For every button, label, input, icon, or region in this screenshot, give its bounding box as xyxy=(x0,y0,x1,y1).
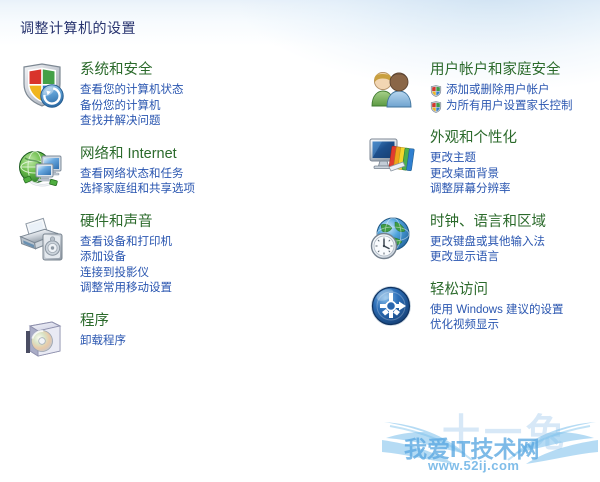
category-column-right: 用户帐户和家庭安全添加或删除用户帐户为所有用户设置家长控制外观和个性化更改主题更… xyxy=(366,60,596,348)
category-link[interactable]: 使用 Windows 建议的设置 xyxy=(430,303,596,319)
category-title[interactable]: 网络和 Internet xyxy=(80,145,316,164)
category-link-label: 优化视频显示 xyxy=(430,319,499,331)
category-link[interactable]: 选择家庭组和共享选项 xyxy=(80,182,316,198)
category-ease-of-access: 轻松访问使用 Windows 建议的设置优化视频显示 xyxy=(366,280,596,334)
category-link[interactable]: 调整常用移动设置 xyxy=(80,281,316,297)
category-link[interactable]: 卸载程序 xyxy=(80,334,316,350)
user-accounts-icon xyxy=(366,62,416,110)
category-link-label: 调整常用移动设置 xyxy=(80,282,172,294)
category-user-accounts: 用户帐户和家庭安全添加或删除用户帐户为所有用户设置家长控制 xyxy=(366,60,596,114)
category-title[interactable]: 硬件和声音 xyxy=(80,213,316,232)
category-link[interactable]: 更改键盘或其他输入法 xyxy=(430,235,596,251)
appearance-monitor-icon xyxy=(366,130,416,178)
category-column-left: 系统和安全查看您的计算机状态备份您的计算机查找并解决问题网络和 Internet… xyxy=(16,60,316,375)
category-link-label: 更改显示语言 xyxy=(430,251,499,263)
site-watermark: 十一兔 我爱IT技术网 www.52ij.com xyxy=(380,392,600,482)
security-shield-icon xyxy=(16,62,66,110)
category-link[interactable]: 更改主题 xyxy=(430,151,596,167)
user-accounts-icon[interactable] xyxy=(366,62,416,110)
uac-shield-icon xyxy=(430,101,442,113)
category-network-globe: 网络和 Internet查看网络状态和任务选择家庭组和共享选项 xyxy=(16,144,316,198)
category-link-label: 查找并解决问题 xyxy=(80,115,161,127)
category-link-label: 查看网络状态和任务 xyxy=(80,168,184,180)
category-link[interactable]: 为所有用户设置家长控制 xyxy=(430,99,596,115)
category-programs-box: 程序卸载程序 xyxy=(16,311,316,361)
network-globe-icon xyxy=(16,146,66,194)
category-printer-sound: 硬件和声音查看设备和打印机添加设备连接到投影仪调整常用移动设置 xyxy=(16,212,316,297)
network-globe-icon[interactable] xyxy=(16,146,66,194)
category-title[interactable]: 用户帐户和家庭安全 xyxy=(430,61,596,80)
ease-of-access-icon[interactable] xyxy=(366,282,416,330)
watermark-wings-icon xyxy=(380,414,600,476)
category-link[interactable]: 备份您的计算机 xyxy=(80,99,316,115)
category-link-label: 查看您的计算机状态 xyxy=(80,84,184,96)
watermark-main-text: 我爱IT技术网 xyxy=(404,430,539,464)
page-title: 调整计算机的设置 xyxy=(20,18,136,38)
category-link-label: 更改键盘或其他输入法 xyxy=(430,236,545,248)
category-body: 时钟、语言和区域更改键盘或其他输入法更改显示语言 xyxy=(430,212,596,266)
category-body: 外观和个性化更改主题更改桌面背景调整屏幕分辨率 xyxy=(430,128,596,198)
category-link[interactable]: 添加或删除用户帐户 xyxy=(430,83,596,99)
category-link-label: 查看设备和打印机 xyxy=(80,236,172,248)
category-link-label: 使用 Windows 建议的设置 xyxy=(430,304,564,316)
category-link[interactable]: 调整屏幕分辨率 xyxy=(430,182,596,198)
clock-globe-icon xyxy=(366,214,416,262)
watermark-url-text: www.52ij.com xyxy=(428,458,520,473)
control-panel-page: 调整计算机的设置 系统和安全查看您的计算机状态备份您的计算机查找并解决问题网络和… xyxy=(0,0,600,482)
category-link[interactable]: 查看网络状态和任务 xyxy=(80,167,316,183)
category-title[interactable]: 系统和安全 xyxy=(80,61,316,80)
category-title[interactable]: 时钟、语言和区域 xyxy=(430,213,596,232)
programs-box-icon[interactable] xyxy=(16,313,66,361)
category-title[interactable]: 程序 xyxy=(80,312,316,331)
printer-sound-icon xyxy=(16,214,66,262)
category-body: 网络和 Internet查看网络状态和任务选择家庭组和共享选项 xyxy=(80,144,316,198)
category-body: 用户帐户和家庭安全添加或删除用户帐户为所有用户设置家长控制 xyxy=(430,60,596,114)
ease-of-access-icon xyxy=(366,282,416,330)
programs-box-icon xyxy=(16,313,66,361)
uac-shield-icon xyxy=(430,85,442,97)
category-body: 轻松访问使用 Windows 建议的设置优化视频显示 xyxy=(430,280,596,334)
category-link[interactable]: 添加设备 xyxy=(80,250,316,266)
category-link[interactable]: 更改桌面背景 xyxy=(430,167,596,183)
category-appearance-monitor: 外观和个性化更改主题更改桌面背景调整屏幕分辨率 xyxy=(366,128,596,198)
category-link-label: 更改桌面背景 xyxy=(430,168,499,180)
category-link-label: 为所有用户设置家长控制 xyxy=(446,100,573,112)
category-body: 系统和安全查看您的计算机状态备份您的计算机查找并解决问题 xyxy=(80,60,316,130)
category-security-shield: 系统和安全查看您的计算机状态备份您的计算机查找并解决问题 xyxy=(16,60,316,130)
category-link[interactable]: 连接到投影仪 xyxy=(80,266,316,282)
category-link[interactable]: 查看设备和打印机 xyxy=(80,235,316,251)
category-link-label: 卸载程序 xyxy=(80,335,126,347)
category-link-label: 更改主题 xyxy=(430,152,476,164)
category-link[interactable]: 更改显示语言 xyxy=(430,250,596,266)
category-title[interactable]: 轻松访问 xyxy=(430,281,596,300)
printer-sound-icon[interactable] xyxy=(16,214,66,262)
category-clock-globe: 时钟、语言和区域更改键盘或其他输入法更改显示语言 xyxy=(366,212,596,266)
category-link-label: 添加或删除用户帐户 xyxy=(446,84,550,96)
category-body: 程序卸载程序 xyxy=(80,311,316,350)
clock-globe-icon[interactable] xyxy=(366,214,416,262)
appearance-monitor-icon[interactable] xyxy=(366,130,416,178)
category-link-label: 连接到投影仪 xyxy=(80,267,149,279)
security-shield-icon[interactable] xyxy=(16,62,66,110)
category-title[interactable]: 外观和个性化 xyxy=(430,129,596,148)
category-link[interactable]: 查找并解决问题 xyxy=(80,114,316,130)
category-link-label: 选择家庭组和共享选项 xyxy=(80,183,195,195)
category-link[interactable]: 优化视频显示 xyxy=(430,318,596,334)
category-link-label: 调整屏幕分辨率 xyxy=(430,183,511,195)
category-link-label: 备份您的计算机 xyxy=(80,100,161,112)
category-body: 硬件和声音查看设备和打印机添加设备连接到投影仪调整常用移动设置 xyxy=(80,212,316,297)
category-link-label: 添加设备 xyxy=(80,251,126,263)
category-link[interactable]: 查看您的计算机状态 xyxy=(80,83,316,99)
watermark-ghost-text: 十一兔 xyxy=(442,402,568,457)
